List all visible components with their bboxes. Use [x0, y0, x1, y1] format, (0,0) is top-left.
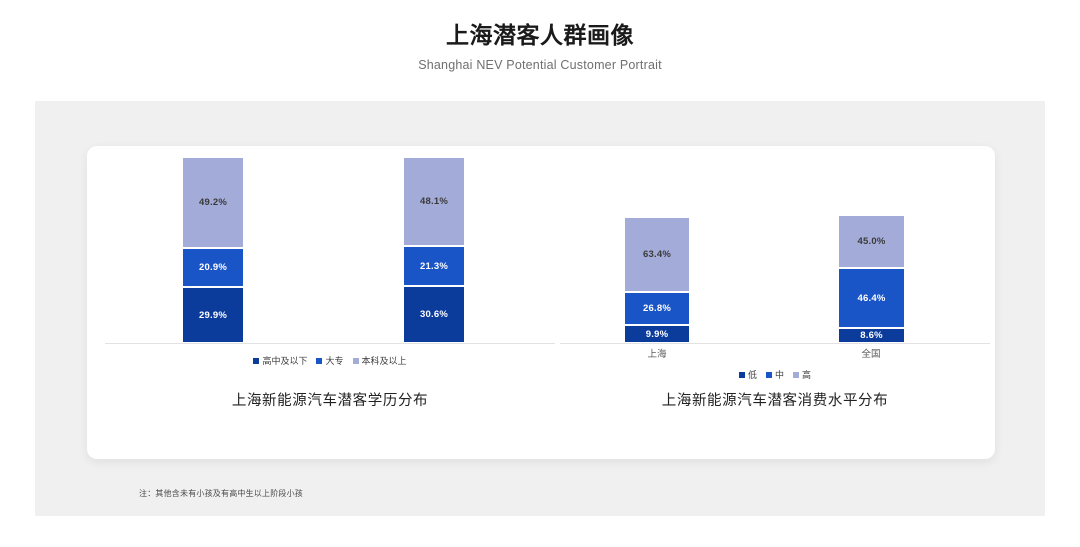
content-panel: 29.9% 20.9% 49.2% 30.6% 21.3% 48.1% 高中及以…: [35, 101, 1045, 516]
legend-item[interactable]: 大专: [316, 354, 343, 367]
bar-segment-mid: 26.8%: [624, 292, 690, 325]
legend-label: 中: [775, 368, 784, 381]
chart-caption-education: 上海新能源汽车潜客学历分布: [105, 389, 555, 410]
legend-item[interactable]: 低: [739, 368, 757, 381]
legend-education: 高中及以下 大专 本科及以上: [105, 354, 555, 367]
chart-consumption-distribution: 9.9% 26.8% 63.4% 8.6% 46.4% 45.0% 上海 全国: [560, 146, 990, 406]
bar-consumption-national[interactable]: 8.6% 46.4% 45.0%: [838, 215, 905, 343]
page-subtitle: Shanghai NEV Potential Customer Portrait: [0, 58, 1080, 72]
legend-swatch-mid-icon: [316, 358, 322, 364]
legend-label: 大专: [325, 354, 343, 367]
charts-row: 29.9% 20.9% 49.2% 30.6% 21.3% 48.1% 高中及以…: [87, 146, 995, 406]
page-title: 上海潜客人群画像: [0, 22, 1080, 50]
bar-consumption-shanghai[interactable]: 9.9% 26.8% 63.4%: [624, 217, 690, 343]
chart-education-distribution: 29.9% 20.9% 49.2% 30.6% 21.3% 48.1% 高中及以…: [105, 146, 555, 406]
x-axis-line: [105, 343, 555, 344]
legend-label: 高: [802, 368, 811, 381]
legend-label: 本科及以上: [362, 354, 407, 367]
category-labels-consumption: 上海 全国: [560, 346, 990, 362]
legend-item[interactable]: 高中及以下: [253, 354, 307, 367]
bar-segment-high: 49.2%: [182, 157, 244, 248]
legend-item[interactable]: 高: [793, 368, 811, 381]
legend-swatch-low-icon: [253, 358, 259, 364]
legend-swatch-low-icon: [739, 372, 745, 378]
bar-segment-high: 63.4%: [624, 217, 690, 292]
bar-segment-mid: 20.9%: [182, 248, 244, 287]
legend-label: 高中及以下: [262, 354, 307, 367]
bar-segment-mid: 21.3%: [403, 246, 465, 286]
bar-segment-low: 8.6%: [838, 328, 905, 343]
legend-item[interactable]: 中: [766, 368, 784, 381]
legend-swatch-high-icon: [353, 358, 359, 364]
bar-segment-low: 9.9%: [624, 325, 690, 343]
legend-consumption: 低 中 高: [560, 368, 990, 381]
bar-segment-low: 29.9%: [182, 287, 244, 343]
bar-education-1[interactable]: 30.6% 21.3% 48.1%: [403, 157, 465, 343]
bar-segment-high: 48.1%: [403, 157, 465, 246]
plot-area-consumption: 9.9% 26.8% 63.4% 8.6% 46.4% 45.0%: [560, 158, 990, 344]
legend-swatch-high-icon: [793, 372, 799, 378]
plot-area-education: 29.9% 20.9% 49.2% 30.6% 21.3% 48.1%: [105, 158, 555, 344]
bar-education-0[interactable]: 29.9% 20.9% 49.2%: [182, 157, 244, 343]
chart-card: 29.9% 20.9% 49.2% 30.6% 21.3% 48.1% 高中及以…: [87, 146, 995, 459]
category-label-national: 全国: [861, 346, 880, 360]
legend-swatch-mid-icon: [766, 372, 772, 378]
legend-label: 低: [748, 368, 757, 381]
legend-item[interactable]: 本科及以上: [353, 354, 407, 367]
category-label-shanghai: 上海: [647, 346, 666, 360]
chart-caption-consumption: 上海新能源汽车潜客消费水平分布: [560, 389, 990, 410]
footnote: 注：其他含未有小孩及有高中生以上阶段小孩: [139, 488, 303, 499]
bar-segment-low: 30.6%: [403, 286, 465, 343]
page-header: 上海潜客人群画像 Shanghai NEV Potential Customer…: [0, 0, 1080, 72]
x-axis-line: [560, 343, 990, 344]
bar-segment-high: 45.0%: [838, 215, 905, 268]
bar-segment-mid: 46.4%: [838, 268, 905, 328]
